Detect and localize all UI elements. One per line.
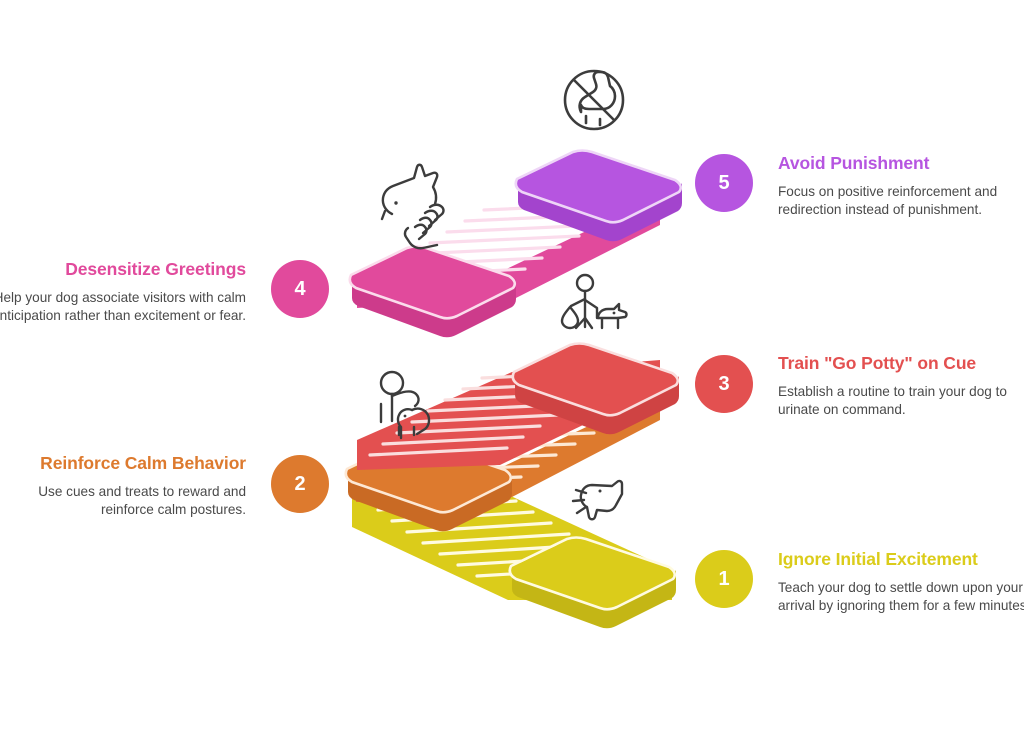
step-number-1: 1 [718,569,729,589]
step-description-1: Teach your dog to settle down upon your … [778,579,1024,615]
step-title-1: Ignore Initial Excitement [778,548,1024,570]
no-punishment-prohibition-icon [565,71,623,129]
dog-head-petting-hand-icon [382,165,444,249]
step-description-2: Use cues and treats to reward and reinfo… [0,483,246,519]
step-number-circle-1: 1 [695,550,753,608]
step-block-3: Train "Go Potty" on Cue Establish a rout… [778,352,1024,420]
step-number-circle-4: 4 [271,260,329,318]
step-title-4: Desensitize Greetings [0,258,246,280]
step-block-5: Avoid Punishment Focus on positive reinf… [778,152,1024,220]
step-block-1: Ignore Initial Excitement Teach your dog… [778,548,1024,616]
step-number-4: 4 [294,279,305,299]
step-block-4: Desensitize Greetings Help your dog asso… [0,258,246,326]
step-block-2: Reinforce Calm Behavior Use cues and tre… [0,452,246,520]
person-walking-dog-potty-icon [562,275,627,328]
step-number-circle-3: 3 [695,355,753,413]
step-title-5: Avoid Punishment [778,152,1024,174]
barking-dog-icon [573,481,622,519]
step-title-3: Train "Go Potty" on Cue [778,352,1024,374]
step-description-4: Help your dog associate visitors with ca… [0,289,246,325]
step-number-circle-2: 2 [271,455,329,513]
staircase-segment-3 [356,298,679,470]
step-description-3: Establish a routine to train your dog to… [778,383,1024,419]
step-description-5: Focus on positive reinforcement and redi… [778,183,1024,219]
step-number-3: 3 [718,374,729,394]
step-number-circle-5: 5 [695,154,753,212]
step-title-2: Reinforce Calm Behavior [0,452,246,474]
step-number-2: 2 [294,474,305,494]
step-number-5: 5 [718,173,729,193]
infographic-root: 5 Avoid Punishment Focus on positive rei… [0,0,1024,737]
